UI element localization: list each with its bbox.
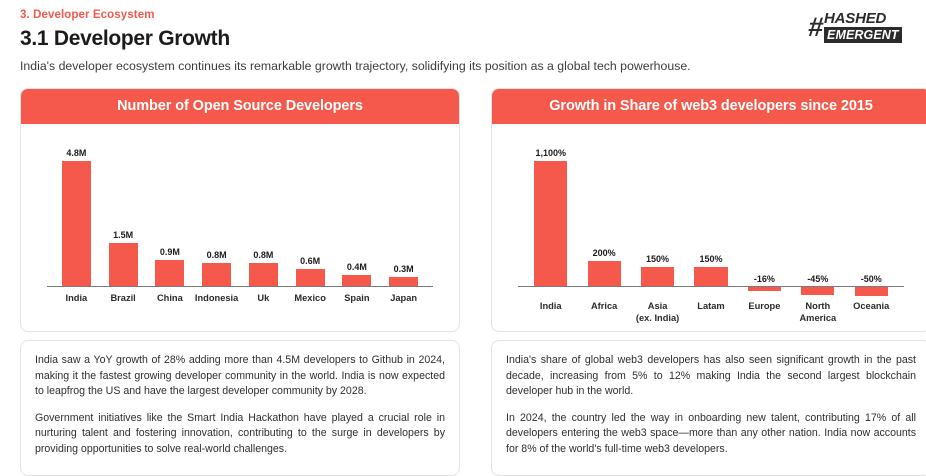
- paragraph: In 2024, the country led the way in onbo…: [506, 411, 916, 458]
- x-axis-label: Latam: [684, 300, 737, 324]
- slide-page: 3. Developer Ecosystem 3.1 Developer Gro…: [0, 0, 926, 476]
- x-axis-label: Europe: [738, 300, 791, 324]
- x-axis-label-line2: (ex. India): [631, 312, 684, 324]
- x-axis-label: Japan: [380, 292, 427, 304]
- bar: [109, 243, 138, 286]
- x-axis-label: China: [147, 292, 194, 304]
- bar-value-label: -50%: [861, 274, 882, 284]
- paragraph: India saw a YoY growth of 28% adding mor…: [35, 353, 445, 400]
- x-axis-label: Oceania: [845, 300, 898, 324]
- chart-title-open-source: Number of Open Source Developers: [21, 89, 459, 124]
- bar-group: 1,100%: [524, 148, 577, 286]
- x-axis-label: Africa: [577, 300, 630, 324]
- x-axis-label: Asia(ex. India): [631, 300, 684, 324]
- bar: [534, 161, 567, 286]
- bar: [249, 263, 278, 286]
- bar: [202, 263, 231, 286]
- bar-chart-open-source: 4.8M1.5M0.9M0.8M0.8M0.6M0.4M0.3M IndiaBr…: [39, 134, 441, 325]
- bar-value-label: -45%: [807, 274, 828, 284]
- bar-group: 150%: [631, 148, 684, 286]
- bar-group: 200%: [577, 148, 630, 286]
- bar-value-label: 0.6M: [300, 256, 320, 266]
- logo-emergent-text: EMERGENT: [824, 27, 902, 43]
- chart-title-web3-growth: Growth in Share of web3 developers since…: [492, 89, 926, 124]
- bar-value-label: -16%: [754, 274, 775, 284]
- paragraph: Government initiatives like the Smart In…: [35, 411, 445, 458]
- bar: [641, 267, 674, 286]
- bar-value-label: 4.8M: [66, 148, 86, 158]
- bar-group: 0.8M: [240, 148, 287, 286]
- bar: [389, 277, 418, 286]
- section-eyebrow: 3. Developer Ecosystem: [20, 8, 908, 22]
- x-axis-label: NorthAmerica: [791, 300, 844, 324]
- x-axis-label-line2: America: [791, 312, 844, 324]
- x-axis-label: Uk: [240, 292, 287, 304]
- x-axis-label: Brazil: [100, 292, 147, 304]
- page-subtitle: India's developer ecosystem continues it…: [20, 58, 908, 74]
- negative-bar-wrapper: [845, 286, 898, 296]
- page-header: 3. Developer Ecosystem 3.1 Developer Gro…: [0, 0, 926, 74]
- x-axis-line: [518, 286, 904, 287]
- chart-area-web3-growth: 1,100%200%150%150%-16%-45%-50% IndiaAfri…: [492, 124, 926, 331]
- bar: [855, 286, 888, 296]
- negative-bar-wrapper: [791, 286, 844, 295]
- logo-wordmark: HASHED EMERGENT: [824, 11, 902, 43]
- x-axis-labels-open-source: IndiaBrazilChinaIndonesiaUkMexicoSpainJa…: [53, 292, 427, 304]
- open-source-developers-card: Number of Open Source Developers 4.8M1.5…: [20, 88, 460, 332]
- bar: [694, 267, 727, 286]
- logo-hashed-text: HASHED: [824, 11, 902, 26]
- bar-value-label: 0.3M: [394, 264, 414, 274]
- web3-growth-card: Growth in Share of web3 developers since…: [491, 88, 926, 332]
- bar-group: -50%: [845, 148, 898, 286]
- bar: [62, 161, 91, 286]
- bar: [342, 275, 371, 287]
- bar-group: 4.8M: [53, 148, 100, 286]
- hash-icon: #: [807, 14, 823, 41]
- bar-group: 0.6M: [287, 148, 334, 286]
- paragraph: India's share of global web3 developers …: [506, 353, 916, 400]
- bar-value-label: 150%: [699, 254, 722, 264]
- x-axis-line: [47, 286, 433, 287]
- chart-area-open-source: 4.8M1.5M0.9M0.8M0.8M0.6M0.4M0.3M IndiaBr…: [21, 124, 459, 331]
- bar-value-label: 0.8M: [253, 250, 273, 260]
- x-axis-label: Spain: [334, 292, 381, 304]
- x-axis-label: India: [524, 300, 577, 324]
- bar-group: 150%: [684, 148, 737, 286]
- x-axis-labels-web3-growth: IndiaAfricaAsia(ex. India)LatamEuropeNor…: [524, 300, 898, 324]
- bar-value-label: 1,100%: [535, 148, 566, 158]
- left-commentary-card: India saw a YoY growth of 28% adding mor…: [20, 340, 460, 476]
- bar-value-label: 0.9M: [160, 247, 180, 257]
- bar: [801, 286, 834, 295]
- left-column: Number of Open Source Developers 4.8M1.5…: [20, 88, 460, 476]
- bar: [155, 260, 184, 286]
- bar-group: -16%: [738, 148, 791, 286]
- bar-value-label: 1.5M: [113, 230, 133, 240]
- x-axis-label: Indonesia: [193, 292, 240, 304]
- bar-chart-web3-growth: 1,100%200%150%150%-16%-45%-50% IndiaAfri…: [510, 134, 912, 325]
- bar-value-label: 0.4M: [347, 262, 367, 272]
- bar: [588, 261, 621, 286]
- bar-plot-open-source: 4.8M1.5M0.9M0.8M0.8M0.6M0.4M0.3M: [53, 148, 427, 286]
- bar-group: 0.8M: [193, 148, 240, 286]
- bar-value-label: 0.8M: [207, 250, 227, 260]
- right-column: Growth in Share of web3 developers since…: [491, 88, 926, 476]
- bar-value-label: 200%: [593, 248, 616, 258]
- bar-group: 1.5M: [100, 148, 147, 286]
- bar-value-label: 150%: [646, 254, 669, 264]
- x-axis-label: Mexico: [287, 292, 334, 304]
- bar-group: 0.4M: [334, 148, 381, 286]
- hashed-emergent-logo: # HASHED EMERGENT: [808, 10, 912, 44]
- bar: [296, 269, 325, 286]
- bar-group: 0.9M: [147, 148, 194, 286]
- bar-group: 0.3M: [380, 148, 427, 286]
- bar-plot-web3-growth: 1,100%200%150%150%-16%-45%-50%: [524, 148, 898, 286]
- page-title: 3.1 Developer Growth: [20, 25, 908, 52]
- bar-group: -45%: [791, 148, 844, 286]
- x-axis-label: India: [53, 292, 100, 304]
- right-commentary-card: India's share of global web3 developers …: [491, 340, 926, 476]
